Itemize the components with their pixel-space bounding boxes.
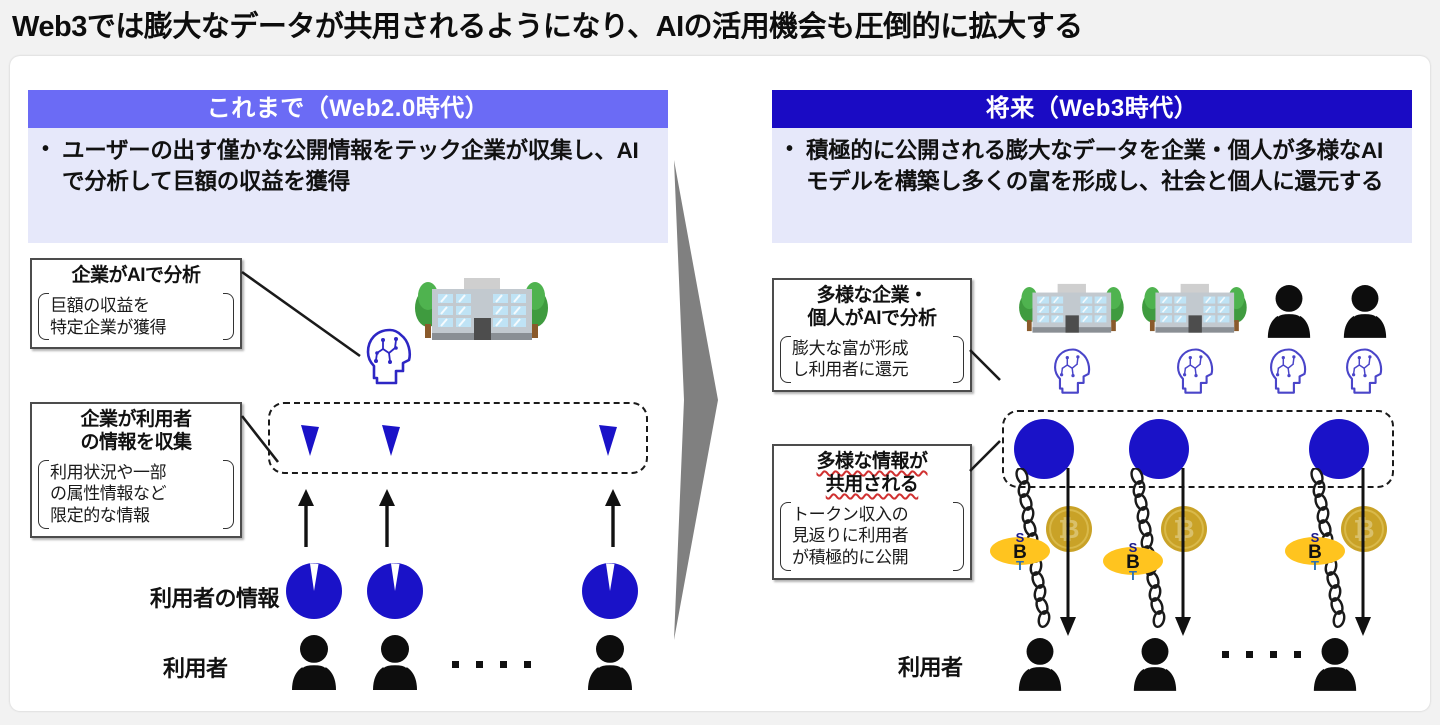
- pie-chart-icon: [285, 562, 343, 620]
- data-wedge-icon: [597, 424, 619, 458]
- callout-subtext: 膨大な富が形成 し利用者に還元: [792, 338, 952, 382]
- ai-head-icon: [1343, 347, 1387, 396]
- building-icon: [1135, 282, 1253, 344]
- up-arrow-icon: [376, 487, 398, 549]
- row-label-users-left: 利用者: [163, 651, 228, 683]
- callout-title: 多様な企業・ 個人がAIで分析: [780, 285, 964, 331]
- brace-left-icon: [38, 293, 49, 341]
- callout-company-ai-analysis[interactable]: 企業がAIで分析 巨額の収益を 特定企業が獲得: [30, 258, 242, 349]
- data-wedge-icon: [380, 424, 402, 458]
- ai-head-icon: [363, 327, 417, 387]
- brace-right-icon: [953, 502, 964, 571]
- callout-diverse-info-shared[interactable]: 多様な情報が 共用される トークン収入の 見返りに利用者 が積極的に公開: [772, 444, 972, 580]
- brace-left-icon: [780, 502, 791, 571]
- callout-diverse-companies-ai-analysis[interactable]: 多様な企業・ 個人がAIで分析 膨大な富が形成 し利用者に還元: [772, 278, 972, 392]
- brace-right-icon: [223, 293, 234, 341]
- callout-subtext: 巨額の収益を 特定企業が獲得: [50, 295, 222, 339]
- callout-sub-wrap: 利用状況や一部 の属性情報など 限定的な情報: [38, 460, 234, 529]
- ai-head-icon: [1267, 347, 1311, 396]
- sbt-token-badge-icon[interactable]: S B T: [1102, 542, 1164, 580]
- callout-sub-wrap: 膨大な富が形成 し利用者に還元: [780, 336, 964, 384]
- callout-sub-wrap: トークン収入の 見返りに利用者 が積極的に公開: [780, 502, 964, 571]
- callout-company-collects-user-info[interactable]: 企業が利用者 の情報を収集 利用状況や一部 の属性情報など 限定的な情報: [30, 402, 242, 538]
- right-panel-body: • 積極的に公開される膨大なデータを企業・個人が多様なAIモデルを構築し多くの富…: [772, 128, 1412, 243]
- person-icon: [288, 634, 340, 690]
- bullet-marker-icon: •: [42, 136, 62, 162]
- ai-head-icon: [1051, 347, 1095, 396]
- bullet-marker-icon: •: [786, 136, 806, 162]
- brace-left-icon: [780, 336, 791, 384]
- person-icon: [369, 634, 421, 690]
- up-arrow-icon: [295, 487, 317, 549]
- left-panel-body: • ユーザーの出す僅かな公開情報をテック企業が収集し、AIで分析して巨額の収益を…: [28, 128, 668, 243]
- person-icon: [1015, 637, 1065, 691]
- right-bullet-row: • 積極的に公開される膨大なデータを企業・個人が多様なAIモデルを構築し多くの富…: [786, 136, 1402, 197]
- person-icon: [1130, 637, 1180, 691]
- callout-title: 企業がAIで分析: [38, 265, 234, 288]
- person-icon: [1310, 637, 1360, 691]
- callout-subtext: 利用状況や一部 の属性情報など 限定的な情報: [50, 462, 222, 527]
- down-arrow-icon: [1172, 468, 1194, 638]
- right-panel-header: 将来（Web3時代）: [772, 90, 1412, 128]
- right-transition-arrow: [670, 150, 726, 650]
- slide-root: Web3では膨大なデータが共用されるようになり、AIの活用機会も圧倒的に拡大する…: [0, 0, 1440, 725]
- left-bullet-row: • ユーザーの出す僅かな公開情報をテック企業が収集し、AIで分析して巨額の収益を…: [42, 136, 658, 197]
- callout-title: 多様な情報が 共用される: [780, 451, 964, 497]
- callout-subtext: トークン収入の 見返りに利用者 が積極的に公開: [792, 504, 952, 569]
- data-wedge-icon: [299, 424, 321, 458]
- sbt-token-badge-icon[interactable]: S B T: [1284, 532, 1346, 570]
- building-icon: [1012, 282, 1130, 344]
- callout-title: 企業が利用者 の情報を収集: [38, 409, 234, 455]
- down-arrow-icon: [1352, 468, 1374, 638]
- badge-bottom-letter: T: [1129, 568, 1137, 580]
- pie-chart-icon: [581, 562, 639, 620]
- dot-ellipsis: [452, 661, 531, 668]
- right-bullet-text: 積極的に公開される膨大なデータを企業・個人が多様なAIモデルを構築し多くの富を形…: [806, 136, 1402, 197]
- building-icon: [406, 276, 556, 354]
- person-icon: [1340, 284, 1390, 338]
- brace-left-icon: [38, 460, 49, 529]
- callout-sub-wrap: 巨額の収益を 特定企業が獲得: [38, 293, 234, 341]
- brace-right-icon: [953, 336, 964, 384]
- pie-chart-icon: [366, 562, 424, 620]
- down-arrow-icon: [1057, 468, 1079, 638]
- person-icon: [1264, 284, 1314, 338]
- badge-bottom-letter: T: [1311, 558, 1319, 570]
- up-arrow-icon: [602, 487, 624, 549]
- person-icon: [584, 634, 636, 690]
- brace-right-icon: [223, 460, 234, 529]
- left-panel-header: これまで（Web2.0時代）: [28, 90, 668, 128]
- page-title: Web3では膨大なデータが共用されるようになり、AIの活用機会も圧倒的に拡大する: [12, 6, 1412, 48]
- row-label-user-info: 利用者の情報: [150, 581, 279, 613]
- row-label-users-right: 利用者: [898, 650, 963, 682]
- left-bullet-text: ユーザーの出す僅かな公開情報をテック企業が収集し、AIで分析して巨額の収益を獲得: [62, 136, 658, 197]
- badge-bottom-letter: T: [1016, 558, 1024, 570]
- shared-data-container-left: [268, 402, 648, 474]
- sbt-token-badge-icon[interactable]: S B T: [989, 532, 1051, 570]
- ai-head-icon: [1174, 347, 1218, 396]
- dot-ellipsis: [1222, 651, 1301, 658]
